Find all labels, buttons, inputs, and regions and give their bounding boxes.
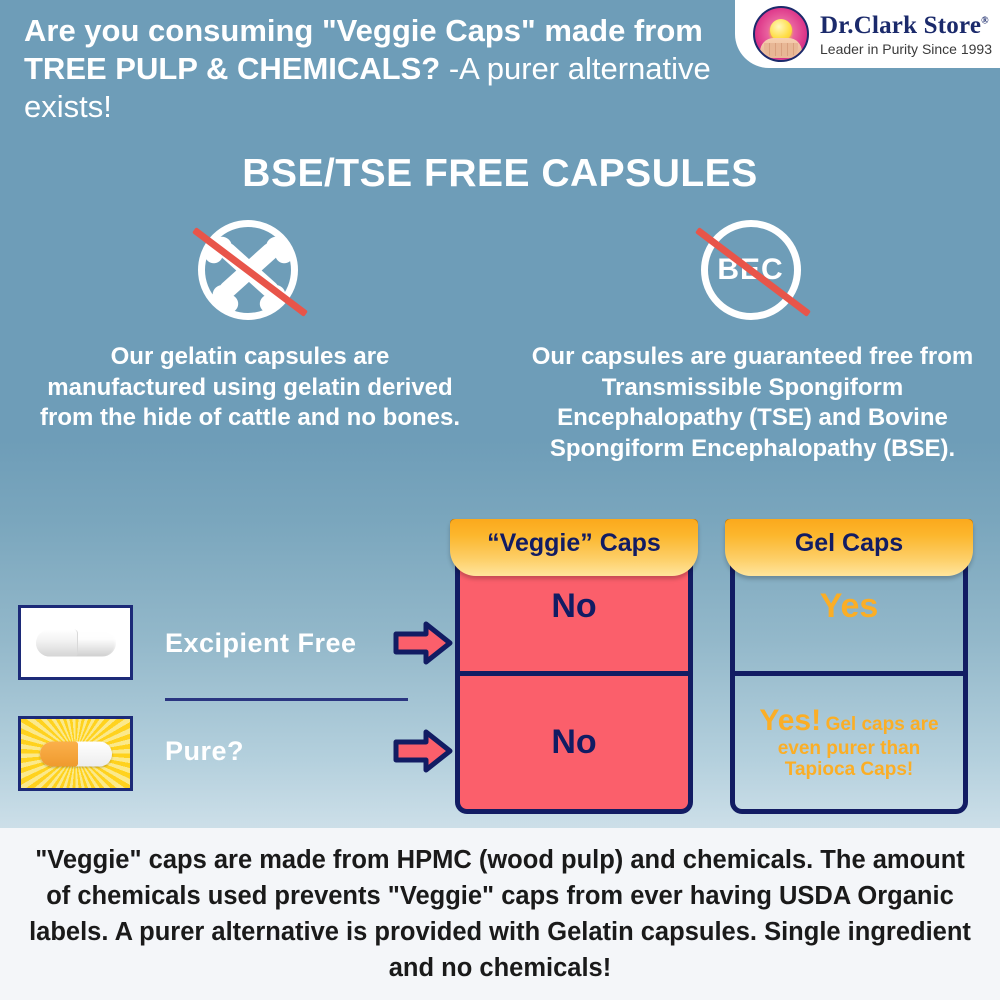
answer-value: Yes! — [759, 704, 821, 737]
answer-value: No — [551, 587, 596, 626]
brand-tagline: Leader in Purity Since 1993 — [820, 42, 992, 56]
sunburst-capsule-thumbnail — [18, 716, 133, 791]
cell-veggie-pure: No — [460, 676, 688, 810]
right-arrow-icon — [393, 728, 453, 774]
hands-shape — [760, 38, 802, 58]
column-header-label: Gel Caps — [795, 529, 903, 558]
feature-caption: Our gelatin capsules are manufactured us… — [30, 342, 470, 434]
column-gel-caps: Yes Yes! Gel caps are even purer than Ta… — [730, 537, 968, 814]
answer-value: No — [551, 723, 596, 762]
feature-block-no-bec: BEC Our capsules are guaranteed free fro… — [530, 218, 975, 465]
row-label-pure: Pure? — [165, 736, 244, 767]
cell-gel-pure: Yes! Gel caps are even purer than Tapioc… — [735, 676, 963, 810]
column-header-label: “Veggie” Caps — [487, 529, 661, 558]
brand-logo-badge[interactable]: Dr.Clark Store® Leader in Purity Since 1… — [735, 0, 1000, 68]
row-divider — [165, 698, 408, 701]
section-title: BSE/TSE FREE CAPSULES — [0, 152, 1000, 196]
no-bec-icon: BEC — [693, 218, 813, 326]
row-label-excipient-free: Excipient Free — [165, 628, 357, 659]
answer-rich: Yes! Gel caps are even purer than Tapioc… — [735, 704, 963, 780]
white-capsule-thumbnail — [18, 605, 133, 680]
right-arrow-icon — [393, 620, 453, 666]
registered-mark: ® — [981, 15, 989, 26]
infographic-poster: Dr.Clark Store® Leader in Purity Since 1… — [0, 0, 1000, 1000]
brand-name-label: Dr.Clark Store — [820, 12, 981, 39]
capsule-shape — [40, 741, 112, 766]
footer-text: "Veggie" caps are made from HPMC (wood p… — [20, 842, 980, 987]
ribbon-plate: “Veggie” Caps — [450, 519, 698, 576]
answer-value: Yes — [820, 587, 879, 626]
footer-bar: "Veggie" caps are made from HPMC (wood p… — [0, 828, 1000, 1000]
feature-block-no-bones: Our gelatin capsules are manufactured us… — [30, 218, 470, 434]
feature-caption: Our capsules are guaranteed free from Tr… — [530, 342, 975, 465]
brand-logo-text: Dr.Clark Store® Leader in Purity Since 1… — [820, 13, 992, 56]
headline: Are you consuming "Veggie Caps" made fro… — [24, 12, 724, 126]
ribbon-plate: Gel Caps — [725, 519, 973, 576]
brand-name: Dr.Clark Store® — [820, 13, 992, 38]
column-veggie-caps: No No — [455, 537, 693, 814]
column-header-veggie-caps: “Veggie” Caps — [450, 519, 698, 576]
capsule-shape — [36, 629, 116, 656]
sun-in-hands-logo-icon — [753, 6, 809, 62]
column-header-gel-caps: Gel Caps — [725, 519, 973, 576]
no-bones-icon — [190, 218, 310, 326]
